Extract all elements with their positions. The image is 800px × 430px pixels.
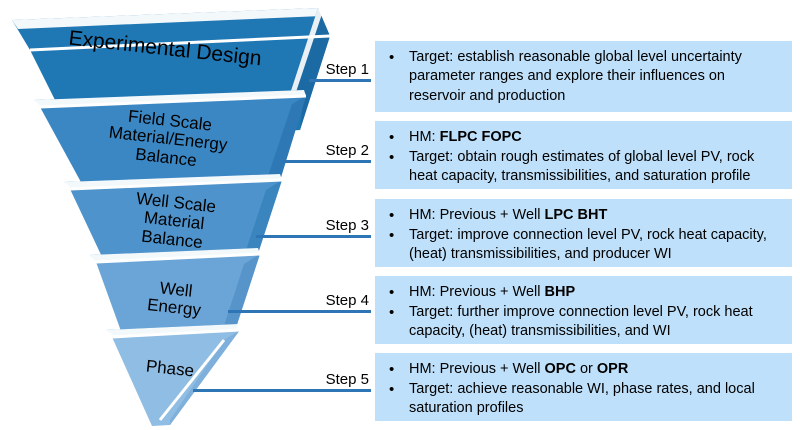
bullet-text: Target: establish reasonable global leve… <box>409 48 784 106</box>
bullet-row: •Target: achieve reasonable WI, phase ra… <box>385 380 784 419</box>
bullet-dot-icon: • <box>385 226 409 246</box>
bullet-row: •HM: Previous + Well LPC BHT <box>385 206 784 226</box>
bullet-row: •Target: establish reasonable global lev… <box>385 48 784 106</box>
step-connector-3: Step 3 <box>256 208 371 238</box>
bullet-row: •Target: further improve connection leve… <box>385 303 784 342</box>
bullet-dot-icon: • <box>385 303 409 323</box>
info-box-step-2: •HM: FLPC FOPC•Target: obtain rough esti… <box>375 121 792 189</box>
step-label-4: Step 4 <box>326 292 369 309</box>
bullet-row: •HM: Previous + Well BHP <box>385 283 784 303</box>
bullet-dot-icon: • <box>385 380 409 400</box>
bullet-row: •Target: improve connection level PV, ro… <box>385 226 784 265</box>
bullet-dot-icon: • <box>385 128 409 148</box>
bullet-text: Target: further improve connection level… <box>409 303 784 342</box>
bullet-dot-icon: • <box>385 360 409 380</box>
bullet-dot-icon: • <box>385 48 409 68</box>
bullet-text: Target: improve connection level PV, roc… <box>409 226 784 265</box>
step-label-3: Step 3 <box>326 217 369 234</box>
info-box-step-4: •HM: Previous + Well BHP•Target: further… <box>375 276 792 344</box>
step-rule-3 <box>256 235 371 238</box>
bullet-text: HM: Previous + Well BHP <box>409 283 784 302</box>
bullet-text: HM: Previous + Well LPC BHT <box>409 206 784 225</box>
step-connector-4: Step 4 <box>228 283 371 313</box>
step-connector-5: Step 5 <box>193 362 371 392</box>
step-label-2: Step 2 <box>326 142 369 159</box>
info-box-step-5: •HM: Previous + Well OPC or OPR•Target: … <box>375 353 792 421</box>
diagram-canvas: Experimental Design Field Scale Material… <box>0 0 800 430</box>
bullet-row: •HM: Previous + Well OPC or OPR <box>385 360 784 380</box>
step-connector-2: Step 2 <box>281 133 371 163</box>
bullet-text: Target: achieve reasonable WI, phase rat… <box>409 380 784 419</box>
step-rule-2 <box>281 160 371 163</box>
bullet-dot-icon: • <box>385 283 409 303</box>
bullet-dot-icon: • <box>385 148 409 168</box>
bullet-row: •Target: obtain rough estimates of globa… <box>385 148 784 187</box>
bullet-text: HM: FLPC FOPC <box>409 128 784 147</box>
bullet-row: •HM: FLPC FOPC <box>385 128 784 148</box>
info-box-step-3: •HM: Previous + Well LPC BHT•Target: imp… <box>375 199 792 267</box>
bullet-text: Target: obtain rough estimates of global… <box>409 148 784 187</box>
step-label-1: Step 1 <box>326 61 369 78</box>
step-connector-1: Step 1 <box>309 52 371 82</box>
info-box-step-1: •Target: establish reasonable global lev… <box>375 41 792 112</box>
step-rule-1 <box>309 79 371 82</box>
step-label-5: Step 5 <box>326 371 369 388</box>
bullet-text: HM: Previous + Well OPC or OPR <box>409 360 784 379</box>
step-rule-5 <box>193 389 371 392</box>
bullet-dot-icon: • <box>385 206 409 226</box>
step-rule-4 <box>228 310 371 313</box>
